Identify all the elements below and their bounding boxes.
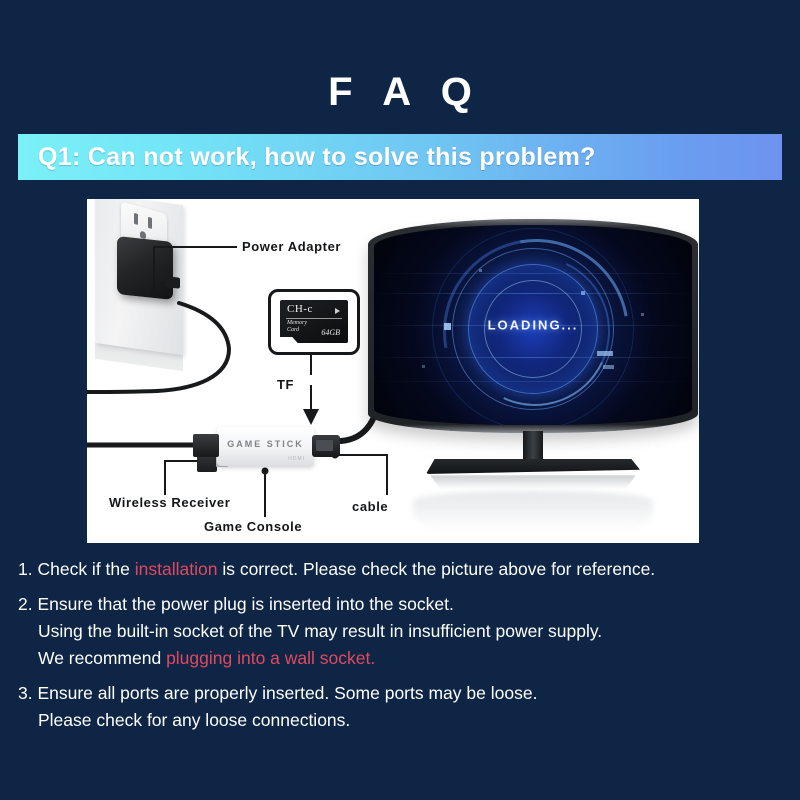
tv-monitor-object: LOADING... bbox=[368, 219, 698, 433]
instruction-line: Using the built-in socket of the TV may … bbox=[18, 618, 788, 645]
monitor-surface-reflection bbox=[413, 491, 653, 541]
usb-connector-right-icon bbox=[312, 435, 340, 457]
monitor-base-reflection bbox=[430, 475, 636, 489]
instruction-line: 2. Ensure that the power plug is inserte… bbox=[18, 591, 788, 618]
instruction-item: 2. Ensure that the power plug is inserte… bbox=[18, 591, 788, 672]
instruction-line: Please check for any loose connections. bbox=[18, 707, 788, 734]
instruction-text: Ensure that the power plug is inserted i… bbox=[37, 594, 453, 614]
highlighted-text: plugging into a wall socket. bbox=[166, 648, 375, 668]
usb-connector-left-icon bbox=[193, 434, 219, 457]
instruction-text: Using the built-in socket of the TV may … bbox=[38, 621, 602, 641]
game-stick-sub: HDMI bbox=[288, 456, 305, 462]
memory-card-arrow-icon bbox=[335, 308, 340, 314]
instruction-line: 3. Ensure all ports are properly inserte… bbox=[18, 680, 788, 707]
label-tf: TF bbox=[277, 377, 294, 392]
monitor-bezel: LOADING... bbox=[368, 219, 698, 433]
label-cable: cable bbox=[352, 499, 388, 514]
memory-card-brand: CH-c bbox=[287, 303, 313, 315]
label-game-console: Game Console bbox=[204, 519, 302, 534]
monitor-screen: LOADING... bbox=[374, 225, 692, 425]
tf-memory-card-object: CH-c MemoryCard 64GB bbox=[280, 300, 348, 343]
instructions-list: 1. Check if the installation is correct.… bbox=[18, 556, 788, 734]
instruction-item: 3. Ensure all ports are properly inserte… bbox=[18, 680, 788, 734]
instruction-line: We recommend plugging into a wall socket… bbox=[18, 645, 788, 672]
game-stick-brand: GAME STICK bbox=[217, 439, 314, 449]
memory-card-script-text: MemoryCard bbox=[287, 320, 307, 334]
instruction-text: Ensure all ports are properly inserted. … bbox=[37, 683, 537, 703]
instruction-text: We recommend bbox=[38, 648, 166, 668]
memory-card-capacity: 64GB bbox=[321, 328, 340, 337]
setup-diagram-image: CH-c MemoryCard 64GB GAME STICK HDMI bbox=[85, 197, 701, 545]
instruction-item: 1. Check if the installation is correct.… bbox=[18, 556, 788, 583]
question-banner: Q1: Can not work, how to solve this prob… bbox=[18, 134, 782, 180]
instruction-line: 1. Check if the installation is correct.… bbox=[18, 556, 788, 583]
label-wireless-receiver: Wireless Receiver bbox=[109, 495, 230, 510]
highlighted-text: installation bbox=[135, 559, 218, 579]
page-title: F A Q bbox=[0, 68, 800, 116]
instruction-text: Check if the bbox=[37, 559, 134, 579]
instruction-text: is correct. Please check the picture abo… bbox=[217, 559, 655, 579]
memory-card-rule bbox=[286, 318, 342, 319]
instruction-number: 2. bbox=[18, 594, 37, 614]
instruction-number: 1. bbox=[18, 559, 37, 579]
label-power-adapter: Power Adapter bbox=[242, 239, 341, 254]
question-banner-text: Q1: Can not work, how to solve this prob… bbox=[18, 143, 596, 172]
memory-card-callout-box: CH-c MemoryCard 64GB bbox=[268, 289, 360, 355]
screen-status-text: LOADING... bbox=[374, 318, 692, 333]
instruction-number: 3. bbox=[18, 683, 37, 703]
instruction-text: Please check for any loose connections. bbox=[38, 710, 350, 730]
game-console-object: GAME STICK HDMI bbox=[217, 427, 314, 466]
